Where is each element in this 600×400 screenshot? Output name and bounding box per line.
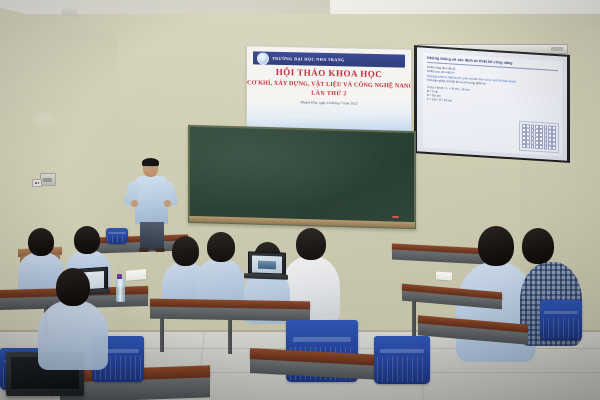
water-bottle[interactable] bbox=[116, 278, 125, 302]
laptop-display-content bbox=[252, 255, 282, 273]
audience-head bbox=[207, 232, 235, 262]
chalk-piece bbox=[392, 216, 399, 218]
event-banner: TRƯỜNG ĐẠI HỌC NHA TRANG HỘI THẢO KHOA H… bbox=[246, 45, 412, 135]
audience-head bbox=[296, 228, 326, 260]
university-seal-icon bbox=[257, 52, 269, 64]
outlet-hole-icon bbox=[35, 182, 37, 184]
chair[interactable] bbox=[106, 228, 128, 244]
grid-cell bbox=[535, 145, 539, 149]
audience-head bbox=[56, 268, 90, 306]
chair-slats bbox=[377, 357, 426, 382]
wall-switch-box[interactable] bbox=[40, 173, 56, 186]
audience-head bbox=[522, 228, 554, 264]
banner-edition: LẦN THỨ 2 bbox=[247, 89, 411, 98]
glasses-icon bbox=[144, 166, 157, 170]
outlet-hole-icon bbox=[38, 182, 40, 184]
presenter-shoe bbox=[139, 248, 149, 252]
power-outlet[interactable] bbox=[32, 179, 42, 187]
chair[interactable] bbox=[540, 300, 582, 340]
paper-sheet[interactable] bbox=[436, 271, 452, 280]
grid-cell bbox=[531, 145, 535, 149]
presenter-hand-right bbox=[164, 200, 171, 207]
desk-leg bbox=[160, 318, 164, 352]
desk-leg bbox=[228, 320, 232, 354]
seminar-room-photo: Những thông số xác định từ thiết kế công… bbox=[0, 0, 600, 400]
chalkboard-sheen bbox=[190, 127, 414, 223]
light-switch-icon[interactable] bbox=[43, 178, 52, 182]
chair-slats bbox=[107, 235, 126, 243]
presentation-slide: Những thông số xác định từ thiết kế công… bbox=[423, 53, 562, 157]
grid-cell bbox=[526, 145, 530, 149]
banner-date: Khánh Hòa, ngày 16 tháng 7 năm 2022 bbox=[247, 99, 411, 106]
presenter-shoe bbox=[155, 248, 165, 252]
laptop-image-thumbnail bbox=[258, 261, 276, 270]
wall-scuff bbox=[30, 110, 58, 128]
grid-cell bbox=[552, 146, 556, 150]
green-chalkboard bbox=[190, 127, 414, 223]
desk-leg bbox=[412, 300, 416, 340]
audience-head bbox=[478, 226, 514, 266]
presenter-hand-left bbox=[131, 200, 138, 207]
grid-cell bbox=[539, 145, 543, 149]
banner-header-bar: TRƯỜNG ĐẠI HỌC NHA TRANG bbox=[253, 51, 405, 67]
grid-cell bbox=[522, 144, 526, 148]
banner-university-name: TRƯỜNG ĐẠI HỌC NHA TRANG bbox=[272, 56, 345, 63]
audience-torso bbox=[38, 300, 108, 370]
grid-cell bbox=[544, 146, 548, 150]
banner-body: HỘI THẢO KHOA HỌC CƠ KHÍ, XÂY DỰNG, VẬT … bbox=[247, 66, 411, 106]
audience-head bbox=[172, 236, 199, 266]
banner-subtitle: CƠ KHÍ, XÂY DỰNG, VẬT LIỆU VÀ CÔNG NGHỆ … bbox=[247, 79, 411, 89]
roller-knob[interactable] bbox=[551, 47, 563, 51]
slide-example-block: Ví dụ: Tính B = L + 2h cm + 2b cm B = 3 … bbox=[427, 84, 513, 106]
paper-sheet[interactable] bbox=[126, 269, 146, 281]
chair-slats bbox=[543, 318, 580, 339]
bottle-cap bbox=[117, 274, 122, 279]
grid-cell bbox=[548, 146, 552, 150]
chair[interactable] bbox=[374, 336, 430, 384]
audience-head bbox=[28, 228, 54, 256]
presenter-legs bbox=[140, 222, 164, 250]
slide-grid-diagram bbox=[519, 121, 559, 154]
banner-title: HỘI THẢO KHOA HỌC bbox=[247, 66, 411, 79]
audience-head bbox=[74, 226, 100, 254]
projector-screen: Những thông số xác định từ thiết kế công… bbox=[417, 47, 567, 160]
